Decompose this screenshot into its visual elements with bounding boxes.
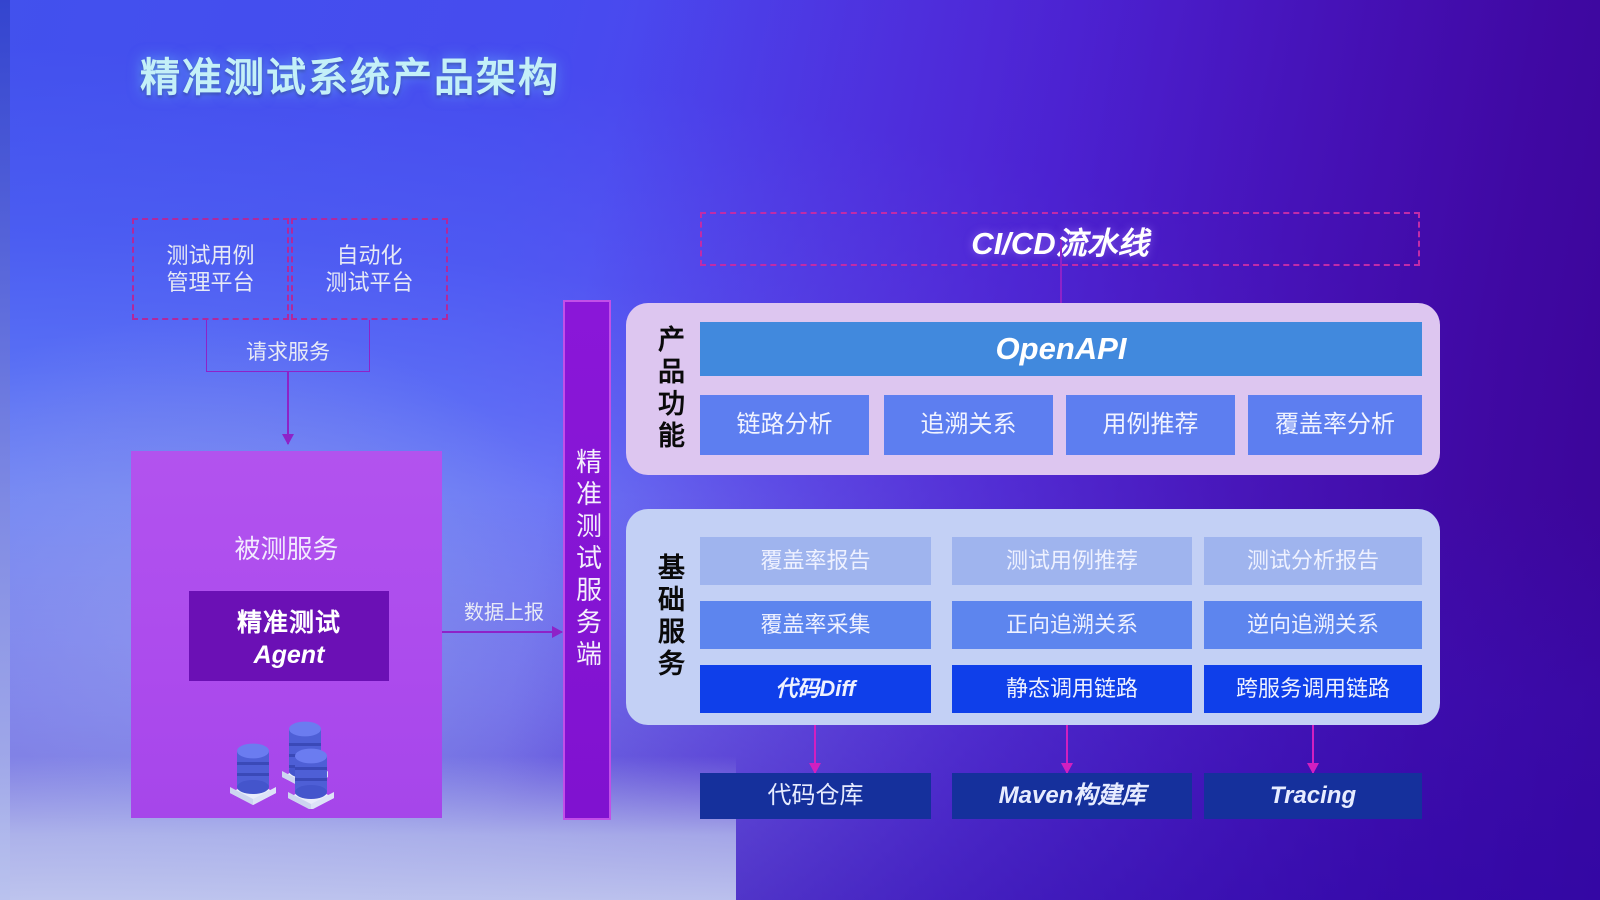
product-function-label: 产品功能 <box>650 303 689 475</box>
server-bar-label: 精准测试服务端 <box>569 448 606 672</box>
database-cluster-icon <box>222 699 352 809</box>
base-cell-case-recommend[interactable]: 测试用例推荐 <box>952 537 1192 585</box>
external-system-maven-repository[interactable]: Maven构建库 <box>952 773 1192 819</box>
base-cell-code-diff[interactable]: 代码Diff <box>700 665 931 713</box>
external-system-tracing-label: Tracing <box>1270 782 1356 811</box>
agent-label-en: Agent <box>254 641 325 670</box>
product-cell-traceability[interactable]: 追溯关系 <box>884 395 1053 455</box>
diagram-canvas: 精准测试系统产品架构 测试用例 管理平台 自动化 测试平台 请求服务 被测服务 … <box>0 0 1600 900</box>
openapi-label: OpenAPI <box>996 330 1127 367</box>
openapi-bar[interactable]: OpenAPI <box>700 322 1422 376</box>
base-cell-coverage-collect[interactable]: 覆盖率采集 <box>700 601 931 649</box>
product-cell-link-analysis[interactable]: 链路分析 <box>700 395 869 455</box>
base-cell-cross-service-call-chain[interactable]: 跨服务调用链路 <box>1204 665 1422 713</box>
base-cell-code-diff-label: 代码Diff <box>775 676 855 702</box>
platform-box-automation-test[interactable]: 自动化 测试平台 <box>291 218 448 320</box>
external-system-tracing[interactable]: Tracing <box>1204 773 1422 819</box>
platform-label-case-management: 测试用例 管理平台 <box>166 242 254 297</box>
platform-label-automation-test: 自动化 测试平台 <box>325 242 413 297</box>
base-cell-forward-trace[interactable]: 正向追溯关系 <box>952 601 1192 649</box>
base-cell-analysis-report[interactable]: 测试分析报告 <box>1204 537 1422 585</box>
base-cell-reverse-trace[interactable]: 逆向追溯关系 <box>1204 601 1422 649</box>
platform-box-case-management[interactable]: 测试用例 管理平台 <box>132 218 289 320</box>
agent-label-cn: 精准测试 <box>237 603 341 639</box>
arrow-cross-service-chain-to-tracing <box>1312 725 1314 773</box>
connector-label-request-service: 请求服务 <box>206 336 370 366</box>
external-system-maven-label: Maven构建库 <box>999 782 1146 811</box>
connector-label-data-report: 数据上报 <box>446 596 562 625</box>
base-cell-coverage-report[interactable]: 覆盖率报告 <box>700 537 931 585</box>
arrow-platforms-to-tested-service <box>287 372 289 444</box>
tested-service-container[interactable]: 被测服务 精准测试 Agent <box>131 451 442 818</box>
base-cell-static-call-chain[interactable]: 静态调用链路 <box>952 665 1192 713</box>
base-service-panel: 基础服务 覆盖率报告 测试用例推荐 测试分析报告 覆盖率采集 正向追溯关系 逆向… <box>626 509 1440 725</box>
precision-test-server-bar[interactable]: 精准测试服务端 <box>563 300 611 820</box>
product-cell-coverage-analysis[interactable]: 覆盖率分析 <box>1248 395 1422 455</box>
product-function-panel: 产品功能 OpenAPI 链路分析 追溯关系 用例推荐 覆盖率分析 <box>626 303 1440 475</box>
tested-service-title: 被测服务 <box>131 529 442 566</box>
arrow-static-chain-to-maven <box>1066 725 1068 773</box>
page-title: 精准测试系统产品架构 <box>140 45 560 103</box>
product-cell-case-recommend[interactable]: 用例推荐 <box>1066 395 1235 455</box>
arrow-agent-to-server <box>442 631 562 633</box>
precision-test-agent-box[interactable]: 精准测试 Agent <box>189 591 389 681</box>
base-service-label: 基础服务 <box>650 509 689 725</box>
external-system-code-repository[interactable]: 代码仓库 <box>700 773 931 819</box>
arrow-code-diff-to-code-repo <box>814 725 816 773</box>
